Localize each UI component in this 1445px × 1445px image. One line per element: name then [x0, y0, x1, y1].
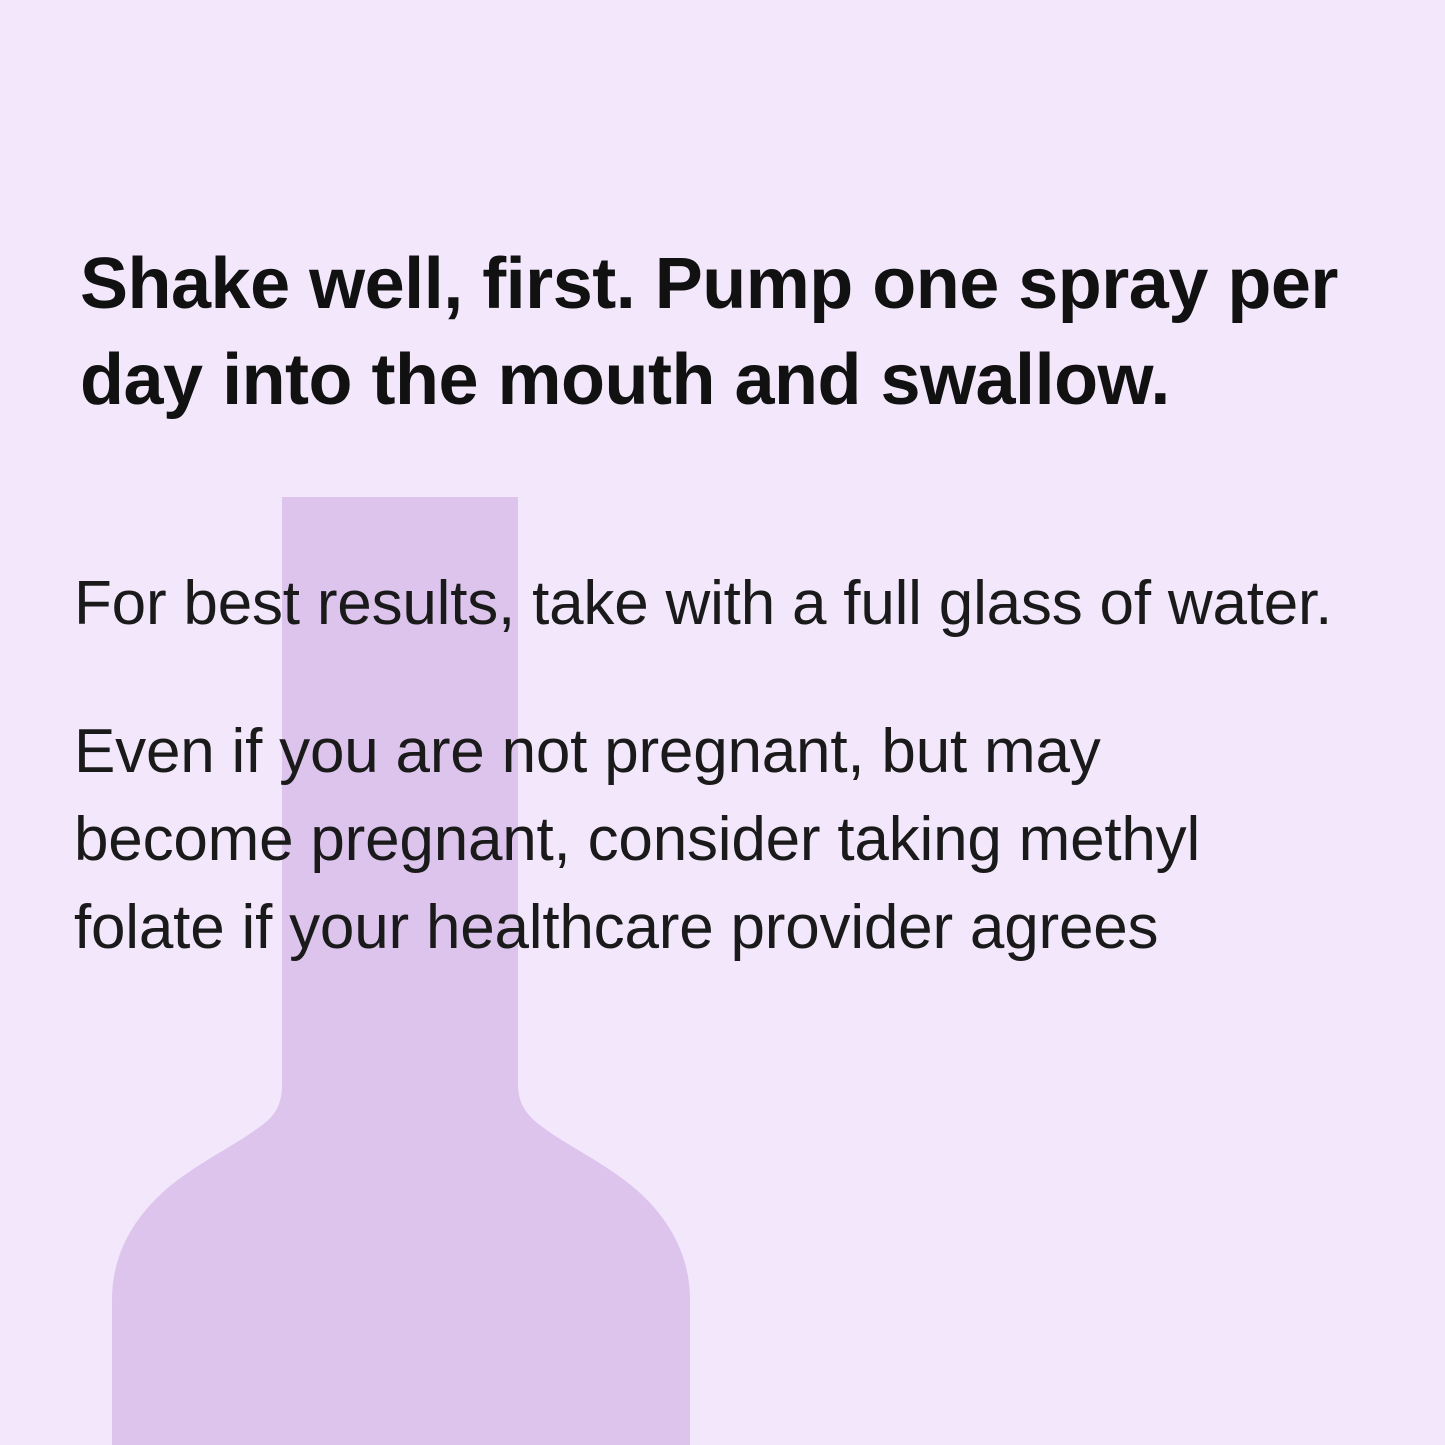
page-title: Shake well, first. Pump one spray per da…	[80, 236, 1370, 428]
instruction-paragraph-best-results: For best results, take with a full glass…	[74, 560, 1384, 648]
text-content: Shake well, first. Pump one spray per da…	[0, 0, 1445, 1445]
instructions-block: For best results, take with a full glass…	[74, 560, 1384, 972]
directions-card: Shake well, first. Pump one spray per da…	[0, 0, 1445, 1445]
instruction-paragraph-pregnancy-note: Even if you are not pregnant, but may be…	[74, 708, 1314, 972]
